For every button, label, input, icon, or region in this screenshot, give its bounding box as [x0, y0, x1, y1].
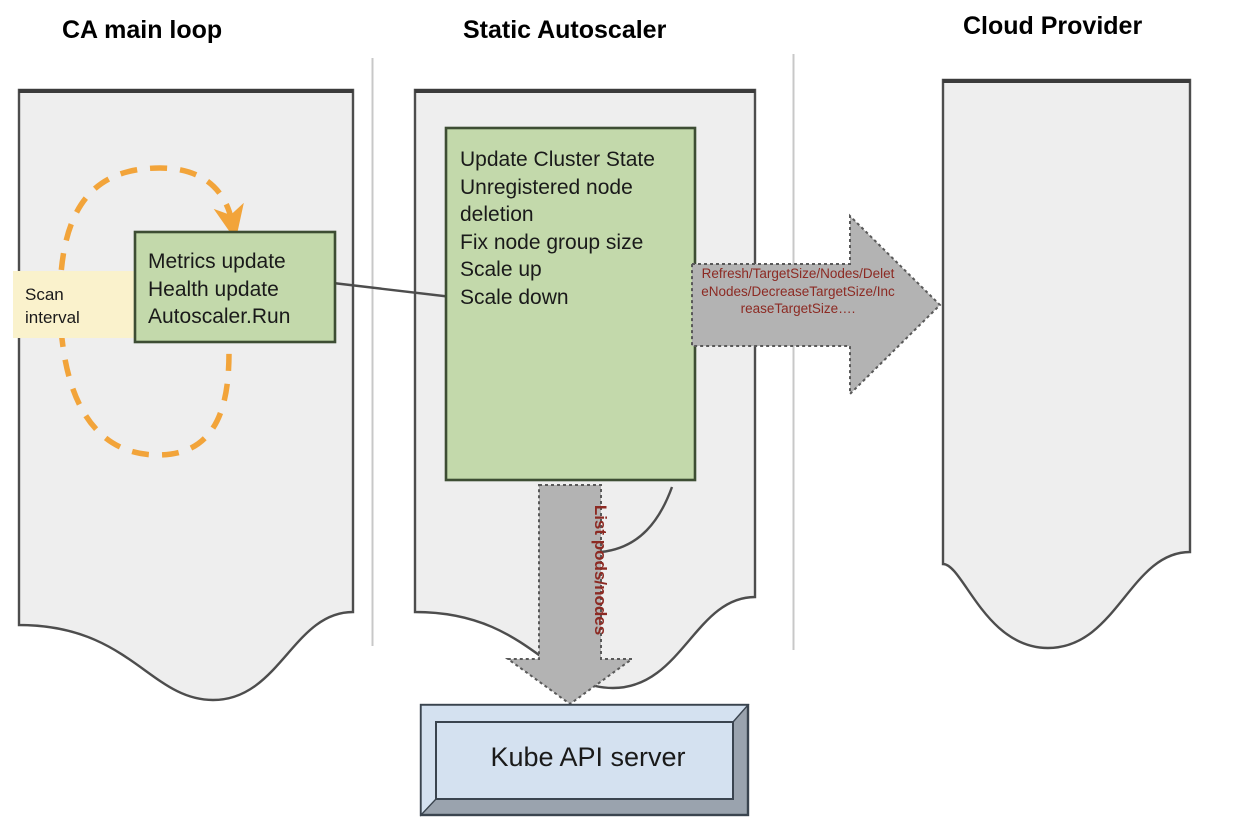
cloud-provider-call-arrow-label: Refresh/TargetSize/Nodes/DeleteNodes/Dec…	[700, 265, 896, 318]
static-autoscaler-steps-label: Update Cluster State Unregistered node d…	[460, 146, 696, 311]
lane-body-ca-main-loop	[19, 90, 353, 700]
lane-title-static-autoscaler: Static Autoscaler	[463, 16, 666, 45]
lane-title-ca-main-loop: CA main loop	[62, 16, 222, 45]
scan-interval-label: Scan interval	[25, 283, 135, 329]
ca-main-steps-label: Metrics update Health update Autoscaler.…	[148, 248, 338, 331]
kube-api-server-label: Kube API server	[443, 741, 733, 773]
lane-title-cloud-provider: Cloud Provider	[963, 12, 1142, 41]
lane-body-cloud-provider	[943, 80, 1190, 648]
diagram-canvas	[0, 0, 1240, 838]
list-pods-nodes-arrow-label: List pods/nodes	[590, 480, 610, 660]
